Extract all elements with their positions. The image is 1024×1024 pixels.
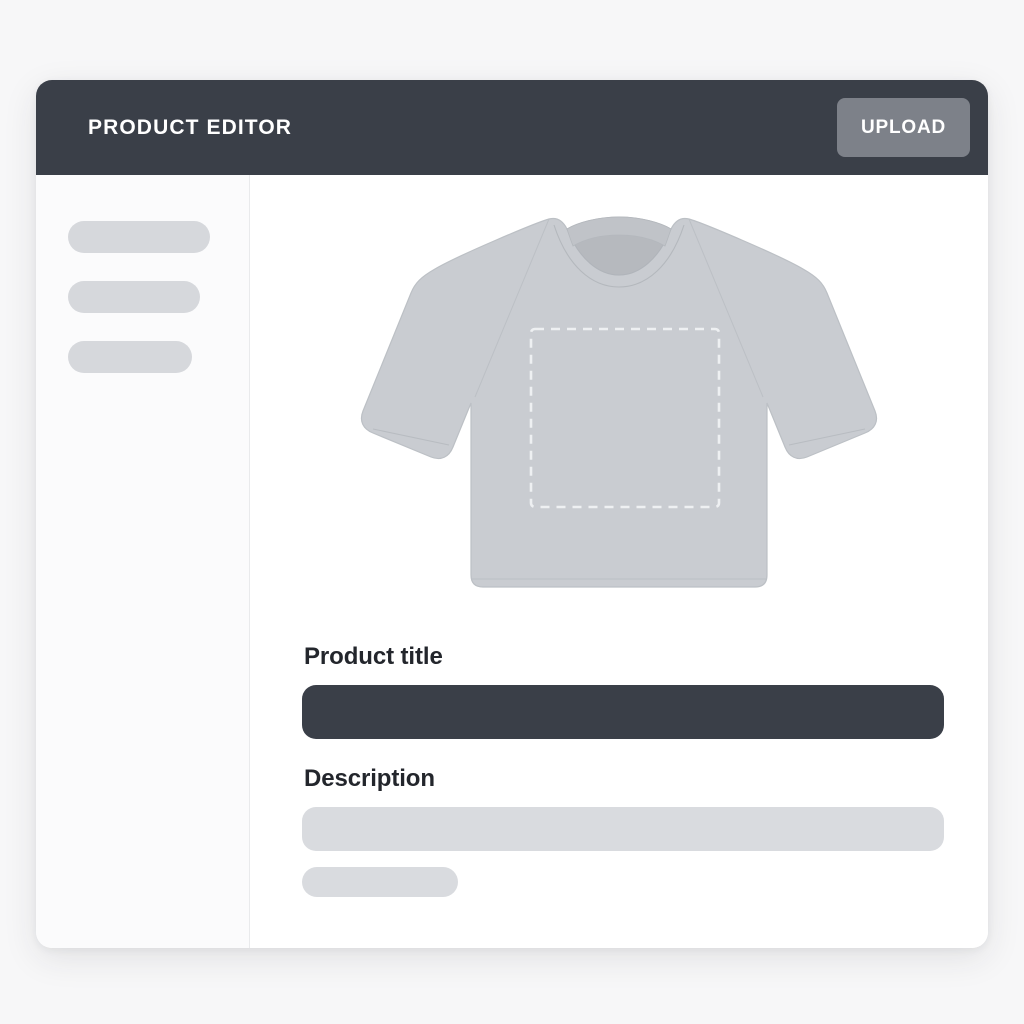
product-form: Product title Description — [302, 643, 944, 897]
sidebar — [36, 175, 250, 948]
field-product-title: Product title — [302, 643, 944, 739]
field-description: Description — [302, 765, 944, 897]
product-title-label: Product title — [304, 643, 944, 671]
field-spacer — [302, 739, 944, 765]
tshirt-mockup-icon — [339, 197, 899, 607]
description-label: Description — [304, 765, 944, 793]
content-area: Product title Description — [36, 175, 988, 948]
title-bar: PRODUCT EDITOR UPLOAD — [36, 80, 988, 175]
description-input-line-1[interactable] — [302, 807, 944, 851]
product-preview[interactable] — [250, 197, 988, 617]
upload-button[interactable]: UPLOAD — [837, 98, 970, 157]
sidebar-item-3[interactable] — [68, 341, 192, 373]
description-input-line-2[interactable] — [302, 867, 458, 897]
product-editor-window: PRODUCT EDITOR UPLOAD — [36, 80, 988, 948]
main-panel: Product title Description — [250, 175, 988, 948]
sidebar-item-2[interactable] — [68, 281, 200, 313]
sidebar-item-1[interactable] — [68, 221, 210, 253]
page-title: PRODUCT EDITOR — [88, 116, 292, 140]
product-title-input[interactable] — [302, 685, 944, 739]
